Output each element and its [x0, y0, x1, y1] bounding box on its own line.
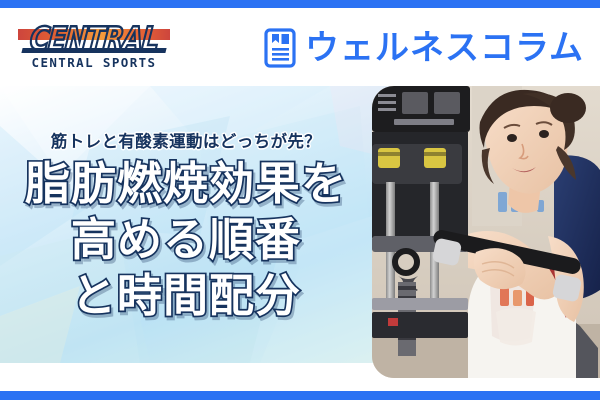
- title-line-1: 脂肪燃焼効果を: [0, 156, 372, 212]
- headline-block: 筋トレと有酸素運動はどっちが先？ 脂肪燃焼効果を 高める順番 と時間配分: [0, 86, 372, 363]
- top-accent-bar: [0, 0, 600, 8]
- brand-label: ウェルネスコラム: [305, 31, 584, 65]
- central-sports-logo: CENTRAL CENTRAL SPORTS: [18, 22, 170, 74]
- central-sports-logo-icon: CENTRAL: [18, 22, 170, 56]
- wellness-column-banner: CENTRAL CENTRAL SPORTS ウェルネスコラム: [0, 0, 600, 400]
- brand-lockup: ウェルネスコラム: [264, 23, 584, 73]
- title-line-2: 高める順番: [0, 212, 372, 268]
- page-title: 脂肪燃焼効果を 高める順番 と時間配分: [0, 156, 372, 324]
- banner-header: CENTRAL CENTRAL SPORTS ウェルネスコラム: [0, 8, 600, 86]
- kicker-text: 筋トレと有酸素運動はどっちが先？: [0, 128, 372, 152]
- gym-photo-illustration: [372, 86, 600, 378]
- title-line-3: と時間配分: [0, 268, 372, 324]
- logo-subtext: CENTRAL SPORTS: [18, 55, 170, 70]
- logo-wordmark: CENTRAL: [29, 22, 160, 56]
- bottom-accent-bar: [0, 391, 600, 400]
- document-article-icon: [264, 28, 296, 68]
- hero-photo: [372, 86, 600, 378]
